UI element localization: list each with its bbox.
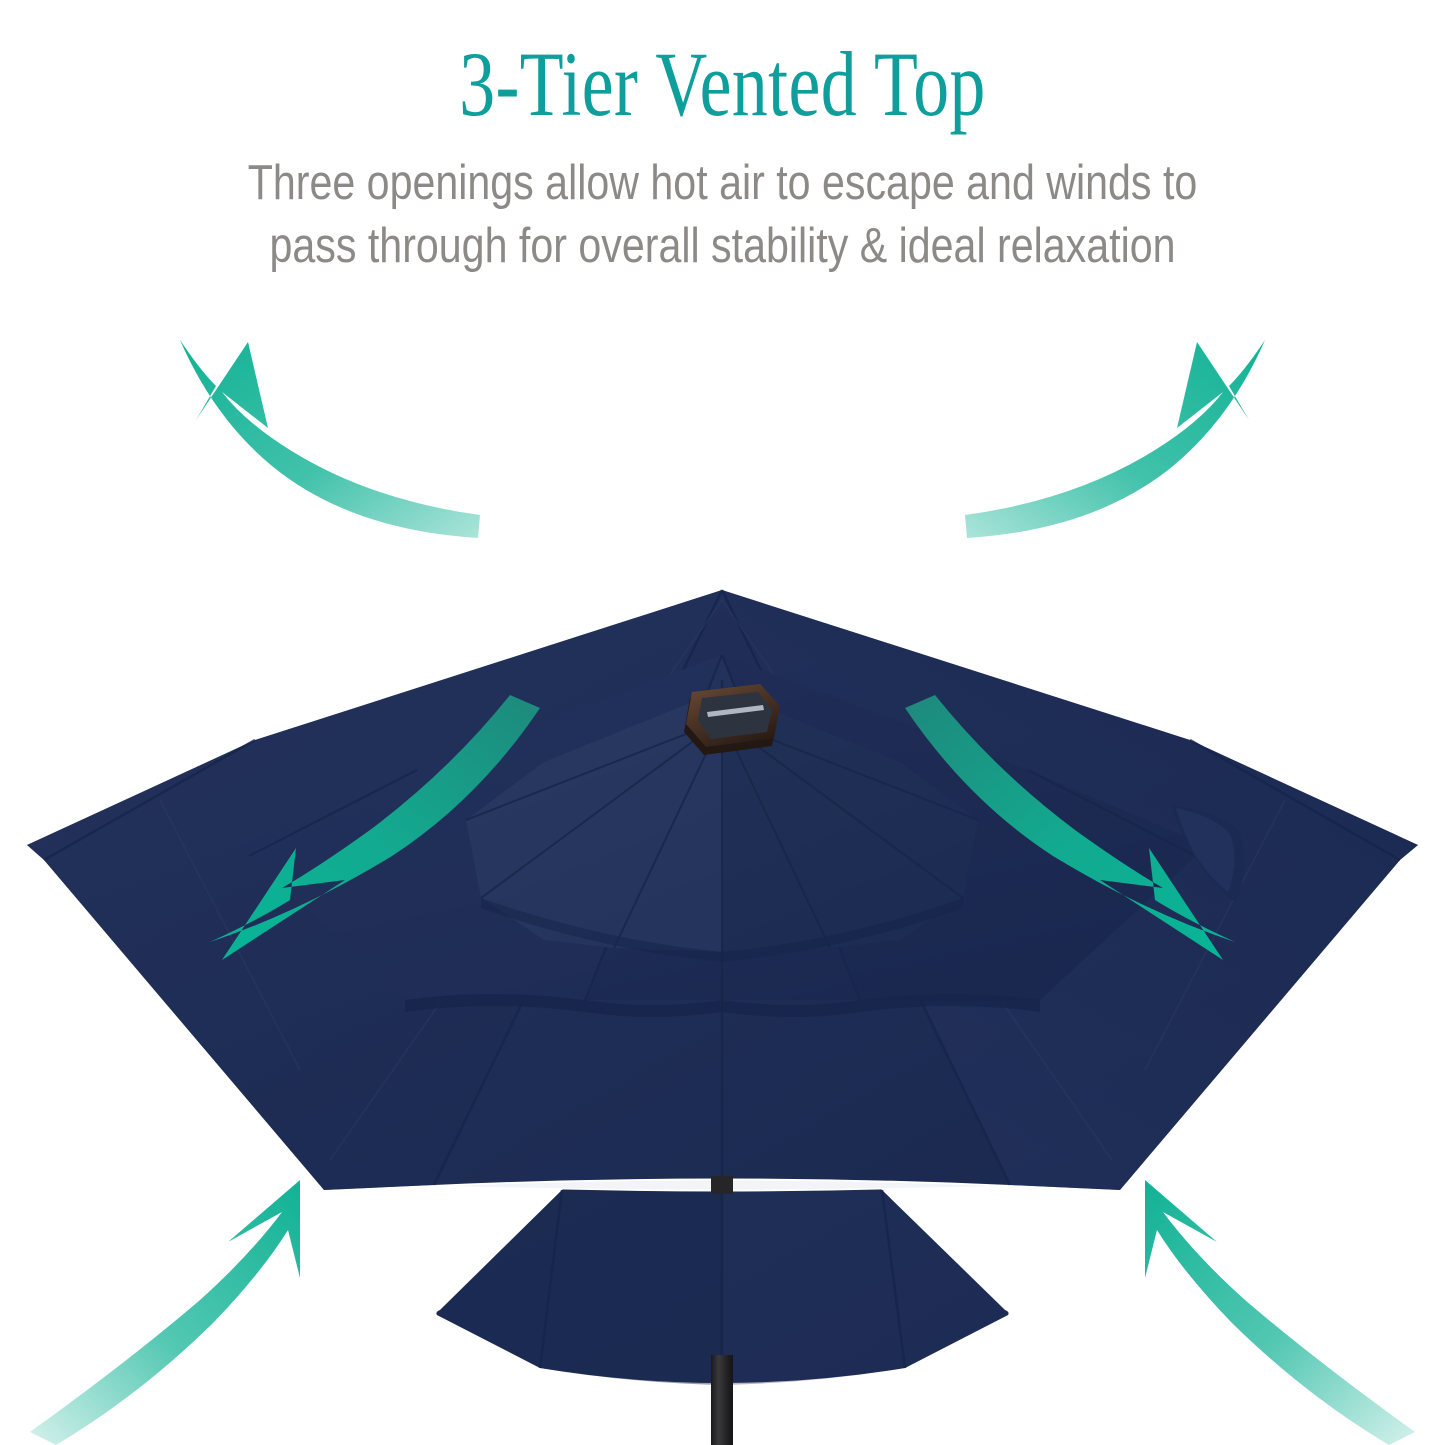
airflow-arrow-top-right (965, 340, 1265, 538)
header: 3-Tier Vented Top Three openings allow h… (0, 0, 1445, 277)
airflow-arrow-bottom-left (30, 1180, 300, 1445)
umbrella-top-finial (684, 684, 780, 755)
airflow-arrow-top-left (180, 340, 480, 538)
page-subtitle: Three openings allow hot air to escape a… (116, 130, 1330, 277)
umbrella-pole-lower (711, 1355, 733, 1445)
product-infographic: 3-Tier Vented Top Three openings allow h… (0, 0, 1445, 1445)
airflow-arrow-bottom-right (1145, 1180, 1415, 1445)
umbrella-illustration (0, 300, 1445, 1445)
page-title: 3-Tier Vented Top (159, 0, 1286, 130)
